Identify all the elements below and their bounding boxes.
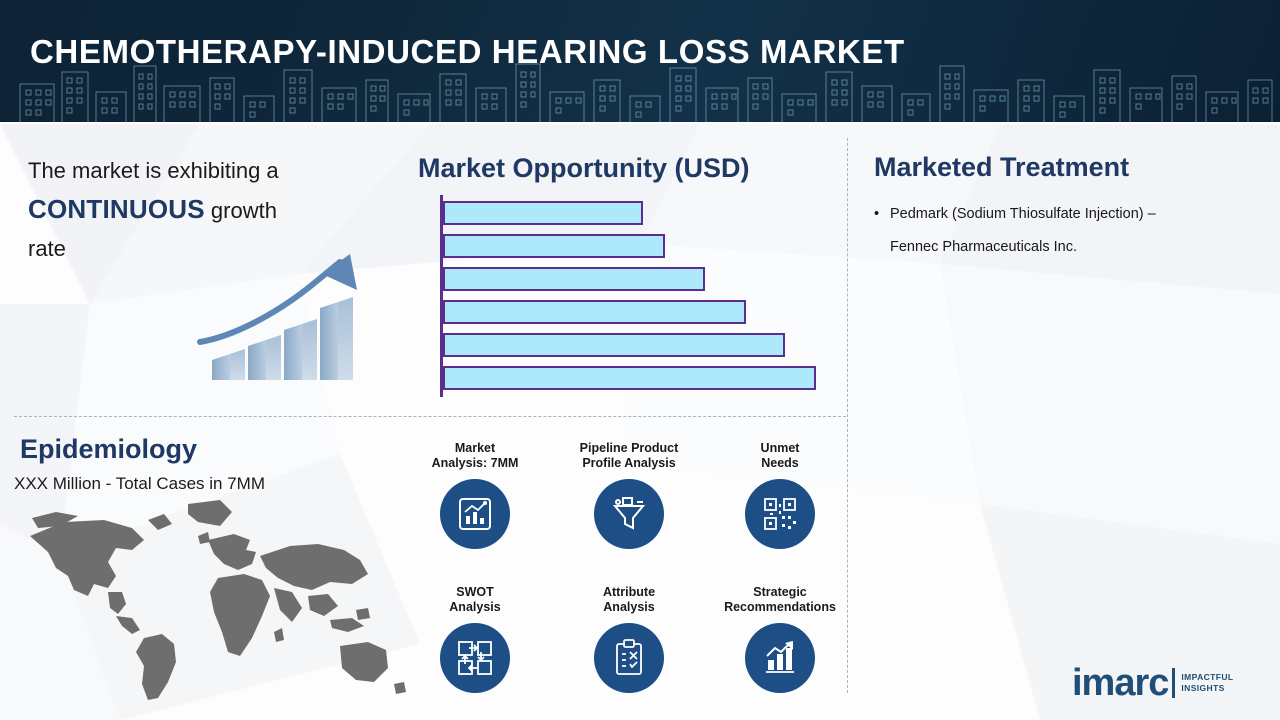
slide-canvas: CHEMOTHERAPY-INDUCED HEARING LOSS MARKET… (0, 0, 1280, 720)
clipboard-icon (594, 623, 664, 693)
header-underline (0, 122, 1280, 124)
slide-header: CHEMOTHERAPY-INDUCED HEARING LOSS MARKET (0, 0, 1280, 124)
logo-divider (1172, 668, 1175, 698)
feature-label-line2: Analysis (400, 600, 550, 615)
feature-label-line1: Market (400, 441, 550, 456)
swot-arrows-icon (440, 623, 510, 693)
epidemiology-title: Epidemiology (20, 434, 197, 465)
feature-label-line2: Needs (705, 456, 855, 471)
market-opportunity-title: Market Opportunity (USD) (418, 153, 750, 184)
feature-swot-analysis[interactable]: SWOT Analysis (400, 585, 550, 693)
funnel-icon (594, 479, 664, 549)
feature-attribute-analysis[interactable]: Attribute Analysis (554, 585, 704, 693)
imarc-logo: imarc IMPACTFUL INSIGHTS (1072, 664, 1233, 702)
lead-line-3: rate (28, 236, 66, 261)
logo-tagline-line1: IMPACTFUL (1181, 672, 1233, 683)
bar-3 (443, 267, 705, 291)
page-title: CHEMOTHERAPY-INDUCED HEARING LOSS MARKET (30, 33, 905, 71)
bar-1 (443, 201, 643, 225)
feature-label-line1: Unmet (705, 441, 855, 456)
feature-label-line2: Analysis: 7MM (400, 456, 550, 471)
bullet-marker: • (874, 198, 879, 231)
epidemiology-subtitle: XXX Million - Total Cases in 7MM (14, 474, 265, 494)
lead-emphasis: CONTINUOUS (28, 194, 205, 224)
treatment-name: Pedmark (Sodium Thiosulfate Injection) – (890, 198, 1254, 231)
marketed-treatment-title: Marketed Treatment (874, 152, 1129, 183)
feature-pipeline-product[interactable]: Pipeline Product Profile Analysis (554, 441, 704, 549)
marketed-treatment-bullet: • Pedmark (Sodium Thiosulfate Injection)… (874, 198, 1254, 264)
growth-arrow-bars-icon (190, 250, 395, 400)
logo-wordmark: imarc (1072, 664, 1168, 702)
feature-label-line1: Strategic (705, 585, 855, 600)
feature-label-line2: Profile Analysis (554, 456, 704, 471)
bar-2 (443, 234, 665, 258)
feature-market-analysis[interactable]: Market Analysis: 7MM (400, 441, 550, 549)
logo-tagline: IMPACTFUL INSIGHTS (1181, 672, 1233, 694)
feature-label-line1: SWOT (400, 585, 550, 600)
bar-5 (443, 333, 785, 357)
treatment-company: Fennec Pharmaceuticals Inc. (890, 231, 1254, 264)
bar-growth-icon (745, 623, 815, 693)
horizontal-divider (14, 416, 846, 417)
feature-unmet-needs[interactable]: Unmet Needs (705, 441, 855, 549)
world-map-icon (12, 492, 412, 712)
feature-strategic-recommendations[interactable]: Strategic Recommendations (705, 585, 855, 693)
lead-line-2: growth (211, 198, 277, 223)
bar-6 (443, 366, 816, 390)
logo-tagline-line2: INSIGHTS (1181, 683, 1233, 694)
feature-label-line1: Pipeline Product (554, 441, 704, 456)
lead-line-1: The market is exhibiting a (28, 158, 279, 183)
feature-label-line1: Attribute (554, 585, 704, 600)
feature-label-line2: Analysis (554, 600, 704, 615)
chart-analysis-icon (440, 479, 510, 549)
feature-label-line2: Recommendations (705, 600, 855, 615)
market-opportunity-chart (418, 195, 838, 405)
qr-code-icon (745, 479, 815, 549)
bar-4 (443, 300, 746, 324)
